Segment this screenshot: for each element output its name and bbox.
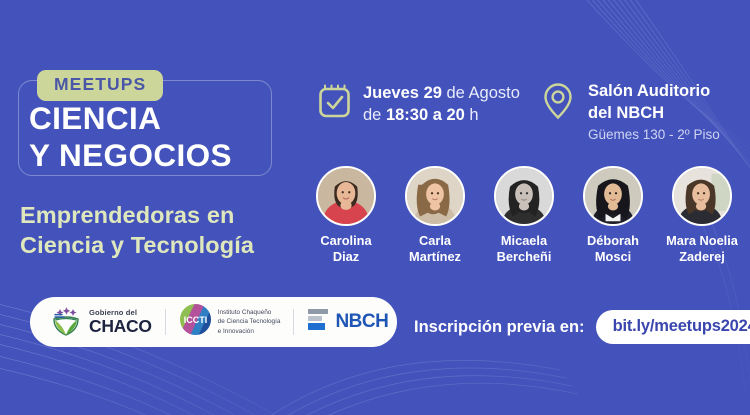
speaker-item: Déborah Mosci xyxy=(571,166,655,265)
venue-name: Salón Auditorio del NBCH xyxy=(588,80,720,125)
registration-link[interactable]: bit.ly/meetups2024 xyxy=(596,310,750,344)
nbch-bars-icon xyxy=(307,307,329,338)
sponsor-logo-bar: Gobierno del CHACO ICC xyxy=(30,297,397,347)
registration-cta: Inscripción previa en: bit.ly/meetups202… xyxy=(414,310,750,344)
svg-text:ICCTI: ICCTI xyxy=(183,315,207,325)
logo-divider-2 xyxy=(293,309,294,335)
page-subtitle: Emprendedoras en Ciencia y Tecnología xyxy=(20,200,254,260)
venue-address: Güemes 130 - 2º Piso xyxy=(588,125,720,145)
speaker-name: Micaela Bercheñi xyxy=(497,233,552,265)
speaker-item: Carolina Diaz xyxy=(304,166,388,265)
speaker-item: Carla Martínez xyxy=(393,166,477,265)
event-time-prefix: de xyxy=(363,106,386,124)
logo-iccti: ICCTI Instituto Chaqueño de Ciencia Tecn… xyxy=(179,303,281,341)
speaker-item: Mara Noelia Zaderej xyxy=(660,166,744,265)
calendar-check-icon xyxy=(318,84,352,120)
speaker-name: Mara Noelia Zaderej xyxy=(666,233,738,265)
speaker-list: Carolina Diaz Carla Martínez xyxy=(304,166,744,265)
chaco-emblem-icon xyxy=(49,304,83,341)
portrait-micaela-bercheni xyxy=(494,166,554,226)
meetups-badge: MEETUPS xyxy=(37,70,163,101)
map-pin-icon xyxy=(543,82,577,118)
speaker-item: Micaela Bercheñi xyxy=(482,166,566,265)
event-time-suffix: h xyxy=(465,106,479,124)
page-title: CIENCIA Y NEGOCIOS xyxy=(29,100,232,174)
cta-label: Inscripción previa en: xyxy=(414,318,585,337)
event-place-block: Salón Auditorio del NBCH Güemes 130 - 2º… xyxy=(543,80,720,145)
event-date-text: Jueves 29 de Agosto de 18:30 a 20 h xyxy=(363,82,520,127)
logo-nbch: NBCH xyxy=(307,307,388,338)
event-date-block: Jueves 29 de Agosto de 18:30 a 20 h xyxy=(318,82,520,127)
portrait-carolina-diaz xyxy=(316,166,376,226)
event-time-line: de 18:30 a 20 h xyxy=(363,104,520,126)
speaker-name: Carla Martínez xyxy=(409,233,461,265)
event-daynumber: 29 xyxy=(424,84,442,102)
event-month: de Agosto xyxy=(442,84,520,102)
portrait-deborah-mosci xyxy=(583,166,643,226)
nbch-wordmark: NBCH xyxy=(335,311,388,333)
portrait-carla-martinez xyxy=(405,166,465,226)
event-time-value: 18:30 a 20 xyxy=(386,106,465,124)
portrait-mara-noelia-zaderej xyxy=(672,166,732,226)
logo-gobierno-chaco: Gobierno del CHACO xyxy=(49,304,152,341)
event-place-text: Salón Auditorio del NBCH Güemes 130 - 2º… xyxy=(588,80,720,145)
event-weekday: Jueves xyxy=(363,84,419,102)
event-date-line: Jueves 29 de Agosto xyxy=(363,82,520,104)
speaker-name: Carolina Diaz xyxy=(320,233,371,265)
chaco-line-main: CHACO xyxy=(89,317,152,335)
event-flyer: MEETUPS CIENCIA Y NEGOCIOS Emprendedoras… xyxy=(0,0,750,415)
chaco-wordmark: Gobierno del CHACO xyxy=(89,309,152,335)
iccti-emblem-icon: ICCTI xyxy=(179,303,212,341)
iccti-wordmark: Instituto Chaqueño de Ciencia Tecnología… xyxy=(218,308,281,335)
logo-divider-1 xyxy=(165,309,166,335)
speaker-name: Déborah Mosci xyxy=(587,233,639,265)
